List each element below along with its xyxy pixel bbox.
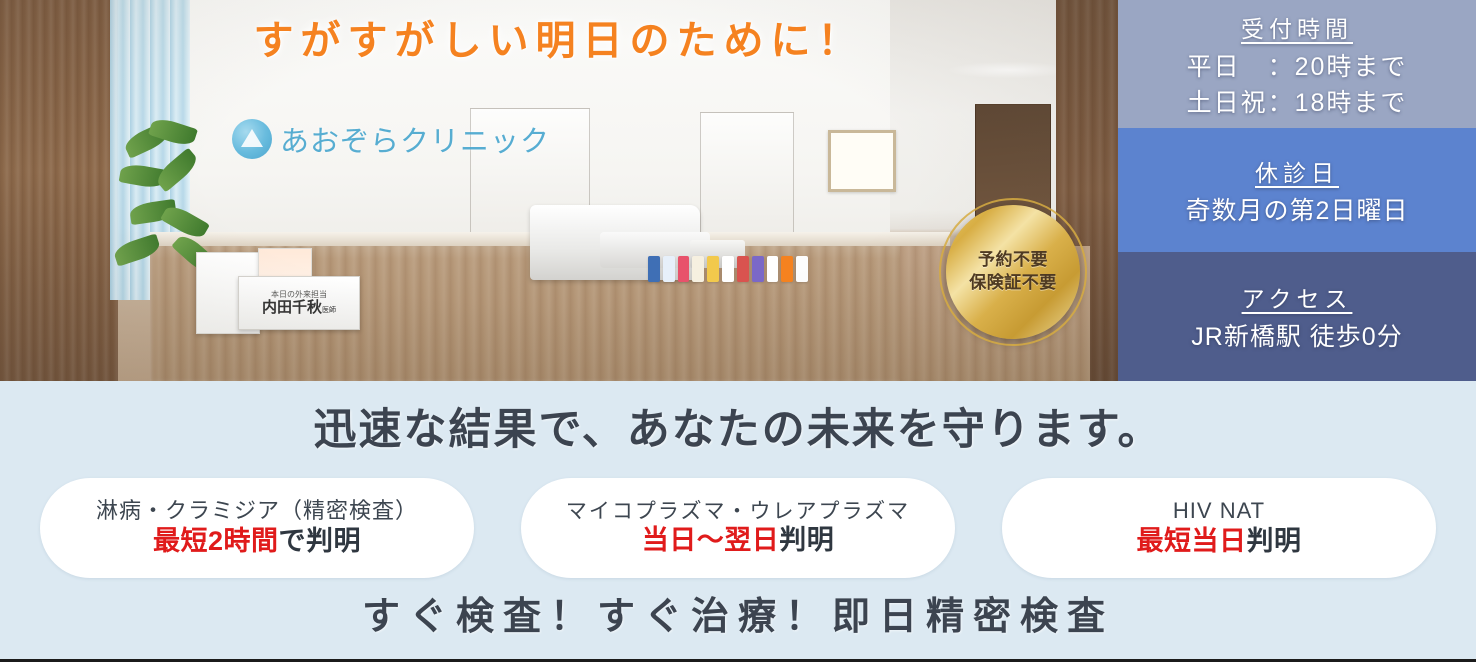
- counter-decal-stickers: [648, 256, 808, 314]
- info-panel-closed-days-title: 休診日: [1255, 154, 1339, 188]
- decal-sticker: [796, 256, 808, 282]
- test-card-title: マイコプラズマ・ウレアプラズマ: [566, 499, 910, 525]
- no-reservation-badge: 予約不要 保険証不要: [946, 205, 1080, 339]
- today-doctor-label: 本日の外来担当: [271, 290, 327, 299]
- lower-section: 迅速な結果で、あなたの未来を守ります。 淋病・クラミジア（精密検査） 最短2時間…: [0, 381, 1476, 662]
- decal-sticker: [752, 256, 764, 282]
- test-result-cards: 淋病・クラミジア（精密検査） 最短2時間で判明 マイコプラズマ・ウレアプラズマ …: [40, 478, 1436, 578]
- clinic-logo-text: あおぞらクリニック: [280, 118, 550, 160]
- info-panel-hours-title: 受付時間: [1241, 10, 1353, 44]
- decal-sticker: [722, 256, 734, 282]
- test-card-title: 淋病・クラミジア（精密検査）: [96, 498, 418, 525]
- info-panel-column: 受付時間 平日 ：20時まで 土日祝：18時まで 休診日 奇数月の第2日曜日 ア…: [1118, 0, 1476, 381]
- info-panel-access-line-1: JR新橋駅 徒歩0分: [1191, 317, 1402, 353]
- test-card-result-highlight: 最短2時間: [153, 526, 279, 556]
- test-card-hiv-nat[interactable]: HIV NAT 最短当日判明: [1002, 478, 1436, 578]
- info-panel-closed-days[interactable]: 休診日 奇数月の第2日曜日: [1118, 128, 1476, 252]
- test-card-result-rest: で判明: [279, 526, 362, 556]
- sub-heading: 迅速な結果で、あなたの未来を守ります。: [0, 395, 1476, 457]
- decal-sticker: [707, 256, 719, 282]
- test-card-title: HIV NAT: [1173, 498, 1265, 525]
- today-doctor-name: 内田千秋医師: [262, 299, 336, 316]
- test-card-result-highlight: 当日〜翌日: [642, 525, 780, 555]
- plant-leaf: [112, 233, 162, 266]
- decal-sticker: [767, 256, 779, 282]
- badge-line-1: 予約不要: [978, 249, 1048, 272]
- test-card-mycoplasma-ureaplasma[interactable]: マイコプラズマ・ウレアプラズマ 当日〜翌日判明: [521, 478, 955, 578]
- info-panel-access-title: アクセス: [1242, 280, 1353, 314]
- decal-sticker: [678, 256, 690, 282]
- test-card-result: 最短当日判明: [1137, 525, 1302, 558]
- doctor-suffix-text: 医師: [322, 307, 336, 314]
- test-card-result-rest: 判明: [1247, 526, 1302, 556]
- info-panel-access[interactable]: アクセス JR新橋駅 徒歩0分: [1118, 252, 1476, 381]
- test-card-result-rest: 判明: [779, 525, 834, 555]
- decal-sticker: [692, 256, 704, 282]
- decal-sticker: [737, 256, 749, 282]
- doctor-name-text: 内田千秋: [262, 299, 322, 316]
- test-card-result: 最短2時間で判明: [153, 525, 361, 558]
- decal-sticker: [663, 256, 675, 282]
- info-panel-closed-days-line-1: 奇数月の第2日曜日: [1186, 191, 1409, 227]
- info-panel-hours-line-2: 土日祝：18時まで: [1187, 83, 1408, 119]
- decal-sticker: [648, 256, 660, 282]
- clinic-hero-page: あおぞらクリニック 本日の外来担当 内田千秋医師: [0, 0, 1476, 662]
- clinic-logo: あおぞらクリニック: [232, 118, 550, 160]
- test-card-result-highlight: 最短当日: [1137, 526, 1247, 556]
- framed-certificate: [828, 130, 896, 192]
- test-card-result: 当日〜翌日判明: [642, 524, 835, 557]
- hero-headline: すがすがしい明日のために！: [0, 8, 1118, 66]
- info-panel-hours-line-1: 平日 ：20時まで: [1187, 47, 1408, 83]
- bottom-tagline: すぐ検査！すぐ治療！即日精密検査: [0, 585, 1476, 640]
- hero-photo: あおぞらクリニック 本日の外来担当 内田千秋医師: [0, 0, 1118, 381]
- today-doctor-sign: 本日の外来担当 内田千秋医師: [238, 276, 360, 330]
- info-panel-hours[interactable]: 受付時間 平日 ：20時まで 土日祝：18時まで: [1118, 0, 1476, 128]
- decal-sticker: [781, 256, 793, 282]
- test-card-gonorrhea-chlamydia[interactable]: 淋病・クラミジア（精密検査） 最短2時間で判明: [40, 478, 474, 578]
- badge-line-2: 保険証不要: [969, 272, 1057, 295]
